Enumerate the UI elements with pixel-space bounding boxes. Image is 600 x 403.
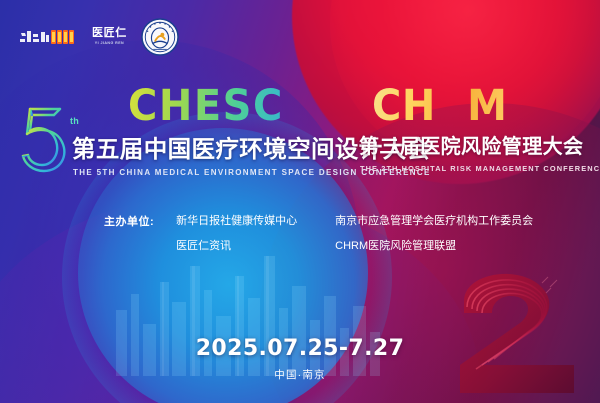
fifth-edition-numeral: th [8,100,84,178]
event-date-block: 2025.07.25-7.27 中国·南京 [0,336,600,382]
organizers-column-2: 南京市应急管理学会医疗机构工作委员会 CHRM医院风险管理联盟 [335,212,533,253]
chesc-title-cn: 第五届中国医疗环境空间设计大会 [72,130,352,164]
chesc-acronym: CHESC [128,86,352,127]
chrm-acronym: CHRM [372,86,600,127]
sponsor-logo-bar: 医匠仁 YI JIANG REN [18,18,179,56]
chrm-conference-block: CHRM 第二届医院风险管理大会 THE 2TH HOSPITAL RISK M… [352,86,600,177]
association-seal-logo [141,18,179,56]
association-seal-logo-icon [141,18,179,56]
yijiangren-logo-cn: 医匠仁 [92,28,127,39]
conference-titles: th CHESC 第五届中国医疗环境空间设计大会 THE 5TH CHINA M… [0,86,600,177]
yijiangren-logo-en: YI JIANG REN [95,42,124,46]
chrm-acronym-part1: CH [372,82,436,131]
yijiangren-logo: 医匠仁 YI JIANG REN [92,28,127,45]
chrm-acronym-part2: R [436,86,467,127]
organizers-label: 主办单位: [104,212,154,229]
event-date: 2025.07.25-7.27 [0,336,600,361]
ordinal-suffix: th [70,116,79,126]
chrm-title-cn: 第二届医院风险管理大会 [359,130,600,159]
chesc-conference-block: th CHESC 第五届中国医疗环境空间设计大会 THE 5TH CHINA M… [0,86,352,177]
numeral-five-icon [8,100,84,178]
event-location: 中国·南京 [0,367,600,382]
organizer-item: 医匠仁资讯 [176,237,297,253]
organizers-column-1: 新华日报社健康传媒中心 医匠仁资讯 [176,212,297,253]
xinhua-daily-logo [18,27,78,47]
chesc-title-en: THE 5TH CHINA MEDICAL ENVIRONMENT SPACE … [73,168,352,177]
chrm-title-en: THE 2TH HOSPITAL RISK MANAGEMENT CONFERE… [360,164,600,173]
xinhua-daily-logo-icon [18,27,78,47]
organizer-item: 南京市应急管理学会医疗机构工作委员会 [335,212,533,228]
organizer-item: CHRM医院风险管理联盟 [335,237,533,253]
chrm-acronym-part3: M [467,82,507,131]
organizers-section: 主办单位: 新华日报社健康传媒中心 医匠仁资讯 南京市应急管理学会医疗机构工作委… [104,212,533,253]
organizer-item: 新华日报社健康传媒中心 [176,212,297,228]
conference-poster: 医匠仁 YI JIANG REN [0,0,600,403]
